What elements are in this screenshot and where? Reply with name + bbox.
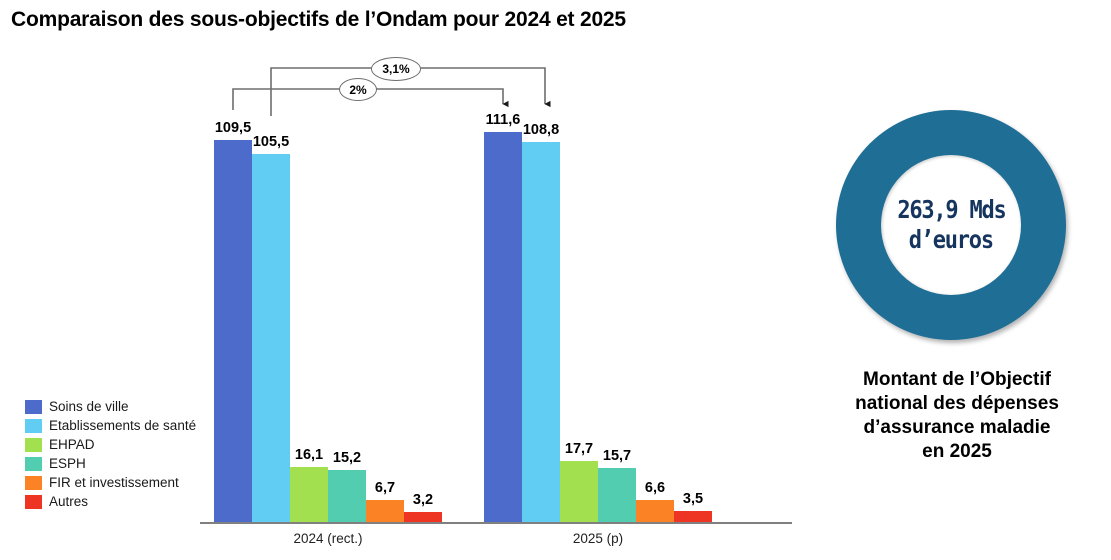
bar[interactable] xyxy=(328,470,366,523)
page-title: Comparaison des sous-objectifs de l’Onda… xyxy=(11,8,626,32)
legend-item[interactable]: Soins de ville xyxy=(25,397,210,416)
kpi-value-line1: 263,9 Mds xyxy=(897,195,1005,226)
category-label-2025: 2025 (p) xyxy=(464,531,732,546)
kpi-caption: Montant de l’Objectif national des dépen… xyxy=(812,368,1102,464)
legend-item-label: Soins de ville xyxy=(49,400,129,414)
bar[interactable] xyxy=(290,467,328,523)
bar[interactable] xyxy=(560,461,598,523)
kpi-caption-line1: Montant de l’Objectif xyxy=(812,368,1102,392)
kpi-donut: 263,9 Mds d’euros xyxy=(836,110,1066,340)
bar-value-label: 105,5 xyxy=(243,134,299,150)
legend-item[interactable]: EHPAD xyxy=(25,435,210,454)
legend-item-label: EHPAD xyxy=(49,438,95,452)
growth-badge-soins-de-ville: 2% xyxy=(339,78,377,101)
legend-item-label: Autres xyxy=(49,495,88,509)
legend-swatch-icon xyxy=(25,457,42,471)
legend-swatch-icon xyxy=(25,476,42,490)
legend-item[interactable]: Etablissements de santé xyxy=(25,416,210,435)
legend-item-label: Etablissements de santé xyxy=(49,419,196,433)
legend-swatch-icon xyxy=(25,400,42,414)
legend-item[interactable]: ESPH xyxy=(25,454,210,473)
legend-item[interactable]: Autres xyxy=(25,492,210,511)
bar-value-label: 3,5 xyxy=(665,491,721,507)
legend-item-label: ESPH xyxy=(49,457,86,471)
legend-swatch-icon xyxy=(25,419,42,433)
kpi-caption-line2: national des dépenses xyxy=(812,392,1102,416)
legend-item-label: FIR et investissement xyxy=(49,476,179,490)
bar-value-label: 15,7 xyxy=(589,448,645,464)
kpi-caption-line3: d’assurance maladie xyxy=(812,416,1102,440)
legend-item[interactable]: FIR et investissement xyxy=(25,473,210,492)
bar[interactable] xyxy=(484,132,522,523)
bar-chart: 2024 (rect.) 2025 (p) 3,1% 2% Soins de v… xyxy=(0,44,800,560)
legend-swatch-icon xyxy=(25,495,42,509)
bar[interactable] xyxy=(214,140,252,523)
growth-badge-etablissements: 3,1% xyxy=(371,57,421,81)
bar-value-label: 15,2 xyxy=(319,450,375,466)
bar-value-label: 108,8 xyxy=(513,122,569,138)
bar-value-label: 3,2 xyxy=(395,492,451,508)
bar[interactable] xyxy=(252,154,290,523)
donut-hole: 263,9 Mds d’euros xyxy=(881,155,1021,295)
bar[interactable] xyxy=(522,142,560,523)
legend-swatch-icon xyxy=(25,438,42,452)
axis-baseline xyxy=(200,522,792,524)
kpi-value-line2: d’euros xyxy=(909,225,993,256)
kpi-caption-line4: en 2025 xyxy=(812,440,1102,464)
legend: Soins de villeEtablissements de santéEHP… xyxy=(25,397,210,511)
category-label-2024: 2024 (rect.) xyxy=(194,531,462,546)
